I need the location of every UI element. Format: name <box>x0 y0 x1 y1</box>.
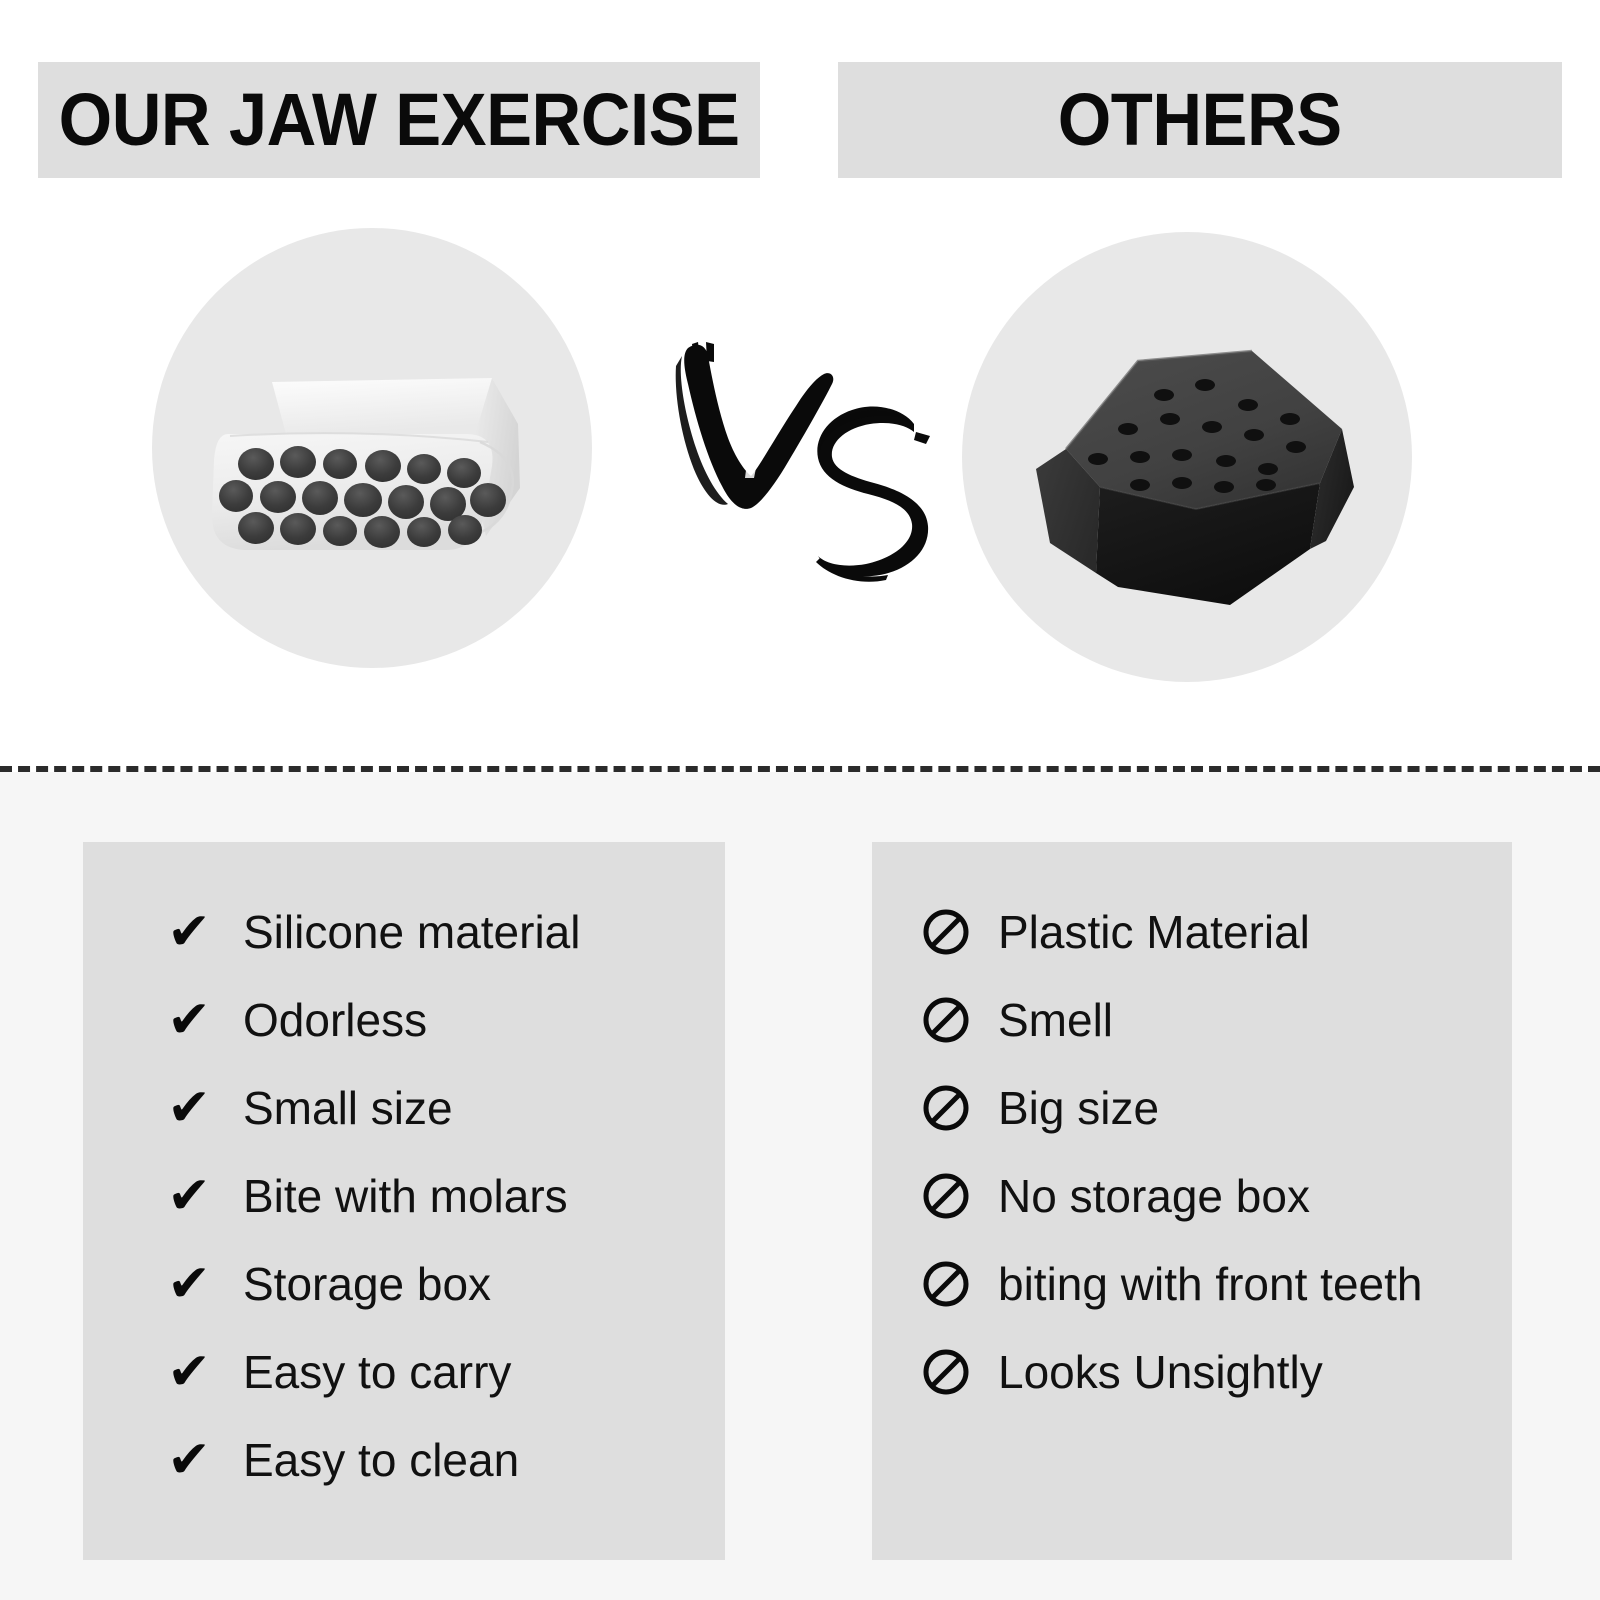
product-image-ours <box>152 228 592 668</box>
feature-label: Easy to clean <box>243 1437 519 1483</box>
list-item: Big size <box>872 1064 1512 1152</box>
product-image-others <box>962 232 1412 682</box>
ban-icon <box>920 1258 972 1310</box>
list-item: biting with front teeth <box>872 1240 1512 1328</box>
ban-icon <box>920 1346 972 1398</box>
header-bar-ours: OUR JAW EXERCISE <box>38 62 760 178</box>
feature-label: Plastic Material <box>998 909 1310 955</box>
header-bar-others: OTHERS <box>838 62 1562 178</box>
ban-icon <box>920 994 972 1046</box>
feature-label: Easy to carry <box>243 1349 511 1395</box>
list-item: ✔ Silicone material <box>83 888 725 976</box>
list-item: ✔ Bite with molars <box>83 1152 725 1240</box>
white-silicone-jaw-exerciser-icon <box>200 338 560 588</box>
feature-label: Looks Unsightly <box>998 1349 1323 1395</box>
list-item: ✔ Odorless <box>83 976 725 1064</box>
feature-label: Storage box <box>243 1261 491 1307</box>
list-item: Plastic Material <box>872 888 1512 976</box>
check-icon: ✔ <box>161 1256 217 1312</box>
list-item: Looks Unsightly <box>872 1328 1512 1416</box>
ban-icon <box>920 1170 972 1222</box>
feature-label: biting with front teeth <box>998 1261 1422 1307</box>
check-icon: ✔ <box>161 1080 217 1136</box>
feature-list-ours: ✔ Silicone material ✔ Odorless ✔ Small s… <box>83 888 725 1504</box>
list-item: ✔ Storage box <box>83 1240 725 1328</box>
feature-label: No storage box <box>998 1173 1310 1219</box>
black-plastic-faceted-block-icon <box>990 287 1390 627</box>
check-icon: ✔ <box>161 1168 217 1224</box>
ban-icon <box>920 1082 972 1134</box>
feature-card-others: Plastic Material Smell <box>872 842 1512 1560</box>
list-item: Smell <box>872 976 1512 1064</box>
versus-brush-icon <box>648 326 938 606</box>
comparison-bottom-section: ✔ Silicone material ✔ Odorless ✔ Small s… <box>0 772 1600 1600</box>
comparison-top-section: OUR JAW EXERCISE OTHERS <box>0 0 1600 770</box>
feature-label: Silicone material <box>243 909 580 955</box>
feature-label: Bite with molars <box>243 1173 568 1219</box>
feature-label: Smell <box>998 997 1113 1043</box>
header-title-others: OTHERS <box>1058 83 1342 157</box>
check-icon: ✔ <box>161 904 217 960</box>
feature-label: Big size <box>998 1085 1159 1131</box>
check-icon: ✔ <box>161 992 217 1048</box>
list-item: ✔ Easy to clean <box>83 1416 725 1504</box>
list-item: No storage box <box>872 1152 1512 1240</box>
header-title-ours: OUR JAW EXERCISE <box>59 83 740 157</box>
list-item: ✔ Easy to carry <box>83 1328 725 1416</box>
ban-icon <box>920 906 972 958</box>
check-icon: ✔ <box>161 1344 217 1400</box>
check-icon: ✔ <box>161 1432 217 1488</box>
feature-label: Odorless <box>243 997 427 1043</box>
feature-label: Small size <box>243 1085 453 1131</box>
feature-card-ours: ✔ Silicone material ✔ Odorless ✔ Small s… <box>83 842 725 1560</box>
list-item: ✔ Small size <box>83 1064 725 1152</box>
feature-list-others: Plastic Material Smell <box>872 888 1512 1416</box>
